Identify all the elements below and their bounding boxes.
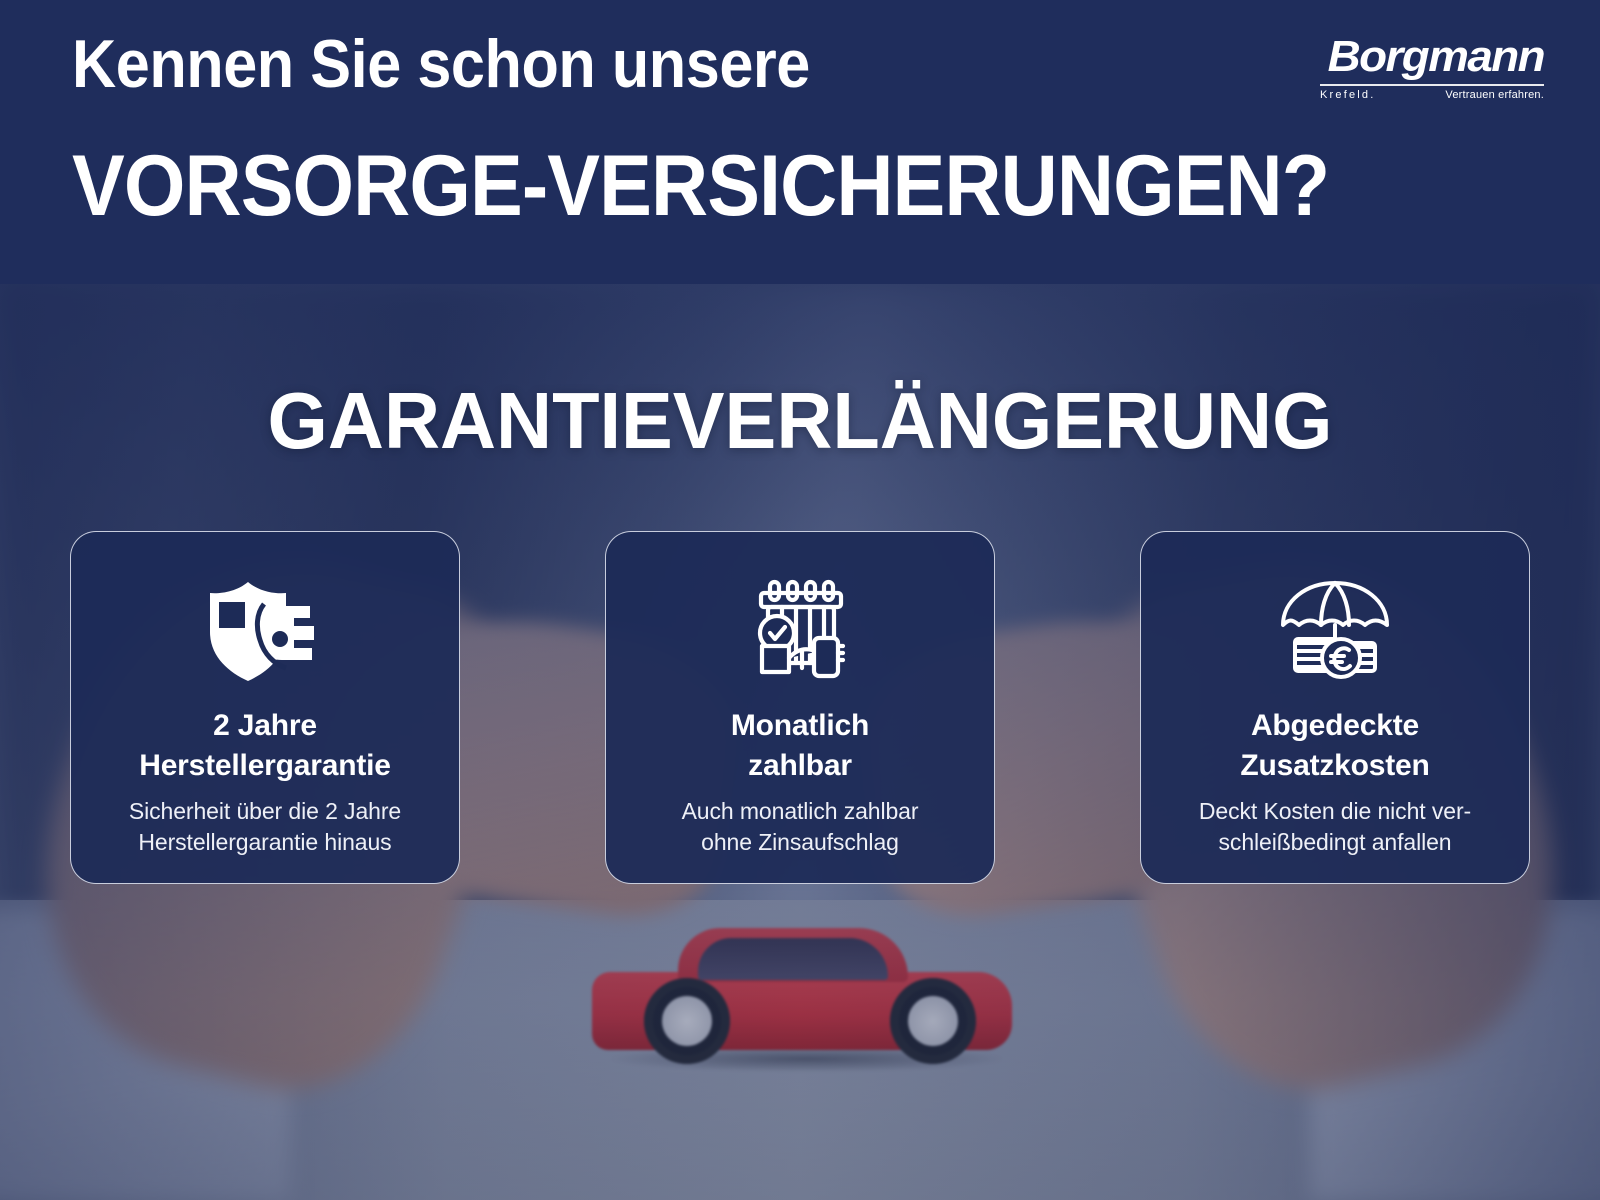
logo-tagline: Krefeld. Vertrauen erfahren. [1320, 88, 1544, 102]
card-description: Sicherheit über die 2 Jahre Herstellerga… [129, 796, 401, 858]
logo-claim: Vertrauen erfahren. [1445, 88, 1544, 102]
umbrella-coins-icon [1275, 572, 1395, 692]
card-title: Monatlich zahlbar [731, 706, 869, 786]
card-title-line2: zahlbar [748, 749, 852, 782]
card-title-line1: 2 Jahre [213, 709, 317, 742]
card-title-line2: Zusatzkosten [1240, 749, 1429, 782]
card-title: Abgedeckte Zusatzkosten [1240, 706, 1429, 786]
card-description: Auch monatlich zahlbar ohne Zinsaufschla… [682, 796, 919, 858]
card-desc-line2: Herstellergarantie hinaus [138, 829, 391, 855]
card-title-line1: Abgedeckte [1251, 709, 1419, 742]
card-desc-line1: Deckt Kosten die nicht ver- [1199, 798, 1471, 824]
card-title-line2: Herstellergarantie [139, 749, 391, 782]
feature-card-monthly-payment[interactable]: Monatlich zahlbar Auch monatlich zahlbar… [605, 531, 995, 884]
shield-car-icon [202, 572, 328, 692]
header-band: Kennen Sie schon unsere VORSORGE-VERSICH… [0, 0, 1600, 284]
logo-city: Krefeld. [1320, 88, 1376, 102]
card-title-line1: Monatlich [731, 709, 869, 742]
card-desc-line2: schleißbedingt anfallen [1219, 829, 1452, 855]
card-desc-line2: ohne Zinsaufschlag [701, 829, 899, 855]
logo-divider [1320, 84, 1544, 86]
header-kicker: Kennen Sie schon unsere [72, 30, 810, 98]
card-description: Deckt Kosten die nicht ver- schleißbedin… [1199, 796, 1471, 858]
card-desc-line1: Auch monatlich zahlbar [682, 798, 919, 824]
calendar-payment-icon [744, 572, 856, 692]
logo-wordmark: Borgmann [1311, 34, 1544, 80]
main-title: GARANTIEVERLÄNGERUNG [24, 378, 1576, 464]
feature-card-warranty[interactable]: 2 Jahre Herstellergarantie Sicherheit üb… [70, 531, 460, 884]
brand-logo[interactable]: Borgmann Krefeld. Vertrauen erfahren. [1320, 34, 1544, 108]
card-title: 2 Jahre Herstellergarantie [139, 706, 391, 786]
card-desc-line1: Sicherheit über die 2 Jahre [129, 798, 401, 824]
promo-banner: Kennen Sie schon unsere VORSORGE-VERSICH… [0, 0, 1600, 1200]
header-headline: VORSORGE-VERSICHERUNGEN? [72, 143, 1329, 229]
feature-card-row: 2 Jahre Herstellergarantie Sicherheit üb… [70, 531, 1530, 884]
feature-card-extra-costs[interactable]: Abgedeckte Zusatzkosten Deckt Kosten die… [1140, 531, 1530, 884]
